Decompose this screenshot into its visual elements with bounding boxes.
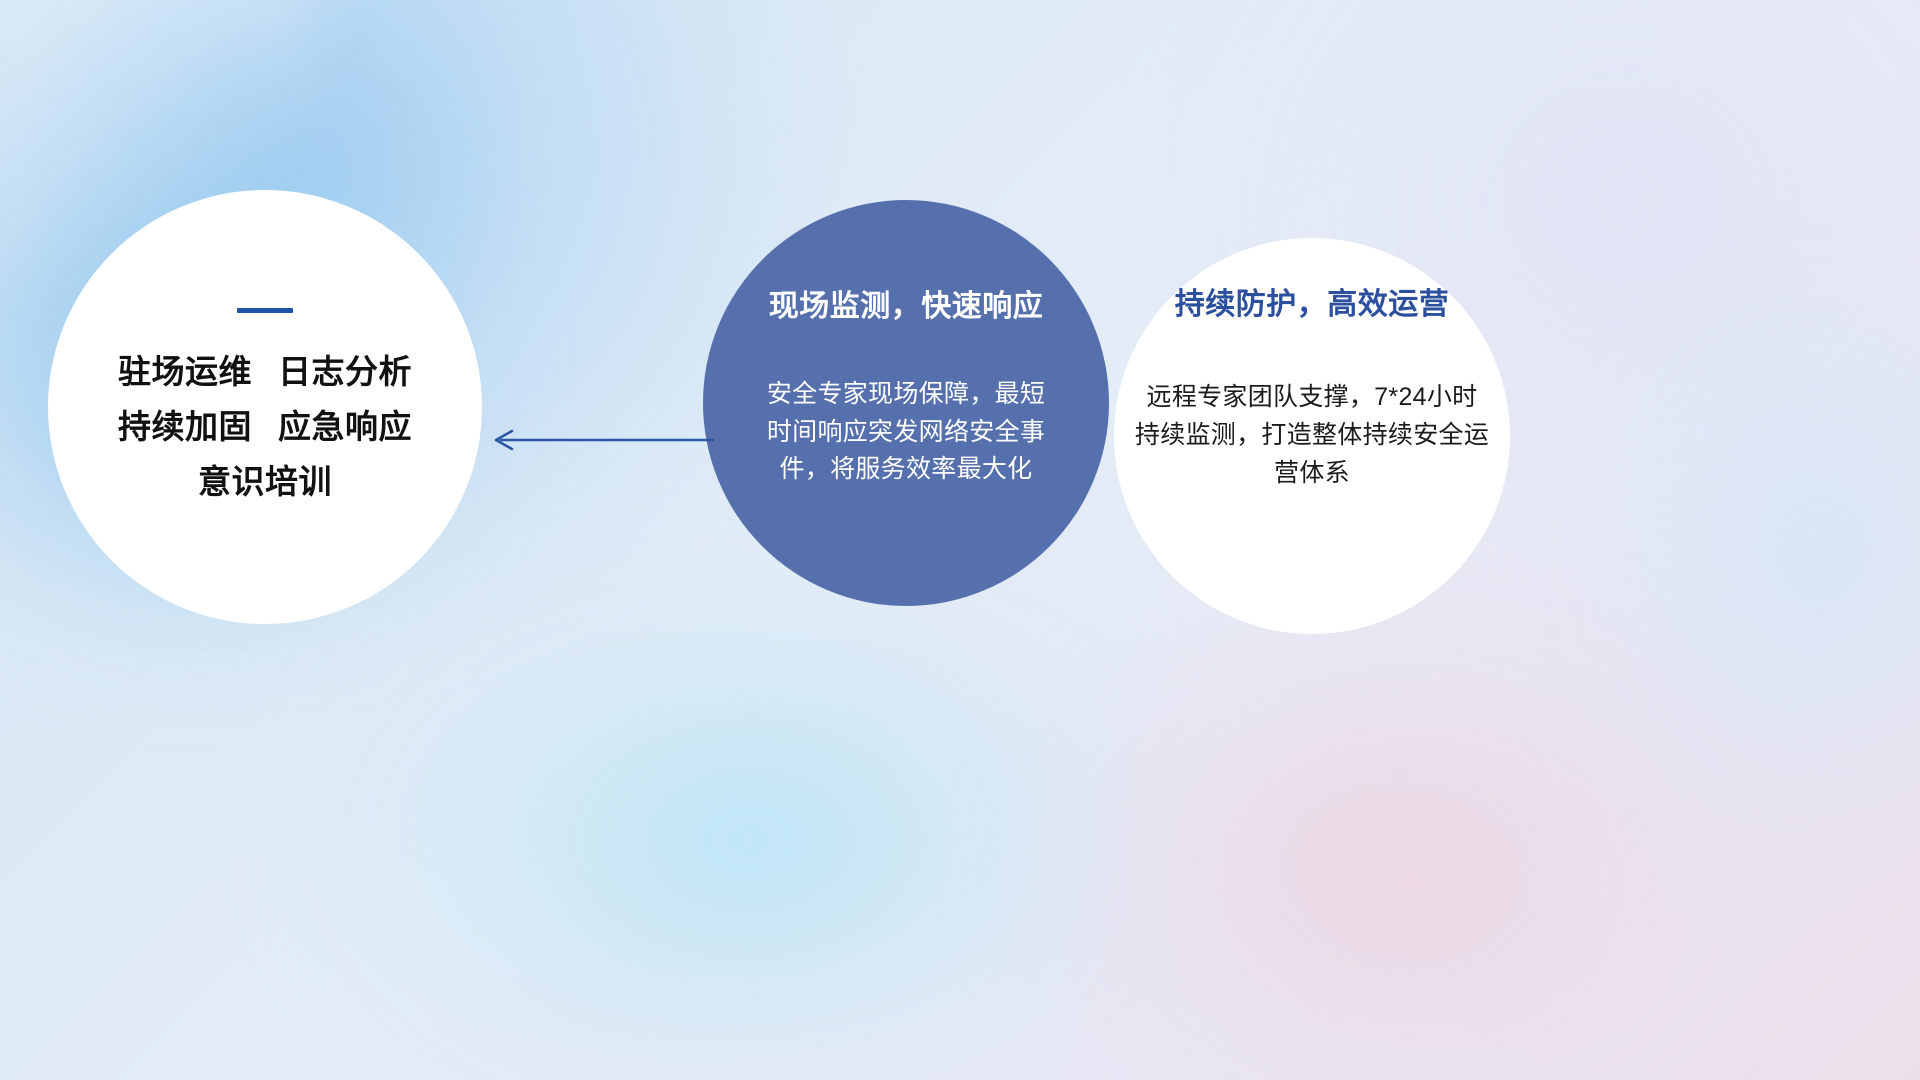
capability-row-2: 持续加固应急响应 [118, 410, 412, 443]
middle-circle-body: 安全专家现场保障，最短时间响应突发网络安全事件，将服务效率最大化 [756, 376, 1056, 489]
slide-canvas: 驻场运维日志分析 持续加固应急响应 意识培训 现场监测，快速响应 安全专家现场保… [0, 0, 1920, 1080]
left-circle-capability-list: 驻场运维日志分析 持续加固应急响应 意识培训 [118, 355, 412, 498]
middle-circle-content: 现场监测，快速响应 安全专家现场保障，最短时间响应突发网络安全事件，将服务效率最… [703, 200, 1109, 606]
middle-circle-title: 现场监测，快速响应 [769, 292, 1044, 322]
left-circle-divider-dash [237, 308, 293, 313]
capability-label-3a: 意识培训 [198, 463, 332, 500]
right-circle-body: 远程专家团队支撑，7*24小时持续监测，打造整体持续安全运营体系 [1134, 378, 1490, 492]
capability-row-1: 驻场运维日志分析 [118, 355, 412, 388]
capability-label-1b: 日志分析 [278, 353, 412, 390]
right-circle-content: 持续防护，高效运营 远程专家团队支撑，7*24小时持续监测，打造整体持续安全运营… [1114, 238, 1510, 634]
capability-label-2a: 持续加固 [118, 408, 252, 445]
capability-label-1a: 驻场运维 [118, 353, 252, 390]
capability-label-2b: 应急响应 [278, 408, 412, 445]
background-wash-right [1560, 240, 1920, 860]
capability-row-3: 意识培训 [198, 465, 332, 498]
right-circle-title: 持续防护，高效运营 [1175, 290, 1450, 320]
left-circle-content: 驻场运维日志分析 持续加固应急响应 意识培训 [48, 190, 482, 624]
flow-arrow-left-icon [488, 424, 714, 456]
